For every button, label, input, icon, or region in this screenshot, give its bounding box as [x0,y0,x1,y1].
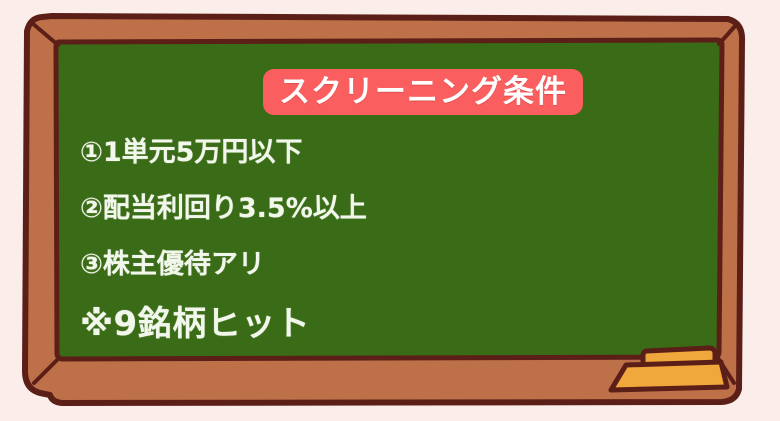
chalkboard: スクリーニング条件 ①1単元5万円以下 ②配当利回り3.5%以上 ③株主優待アリ… [22,11,756,410]
title-badge-label: スクリーニング条件 [279,77,567,108]
title-badge: スクリーニング条件 [263,69,583,115]
condition-item-2: ②配当利回り3.5%以上 [80,195,700,222]
eraser-body [611,362,727,390]
condition-item-3: ③株主優待アリ [80,251,700,278]
slide-canvas: スクリーニング条件 ①1単元5万円以下 ②配当利回り3.5%以上 ③株主優待アリ… [0,0,780,421]
result-summary: ※9銘柄ヒット [80,307,700,341]
condition-item-1: ①1単元5万円以下 [80,139,700,166]
conditions-list: ①1単元5万円以下 ②配当利回り3.5%以上 ③株主優待アリ ※9銘柄ヒット [80,139,700,341]
board-content: スクリーニング条件 ①1単元5万円以下 ②配当利回り3.5%以上 ③株主優待アリ… [62,43,716,353]
chalkboard-eraser-icon [605,341,735,401]
